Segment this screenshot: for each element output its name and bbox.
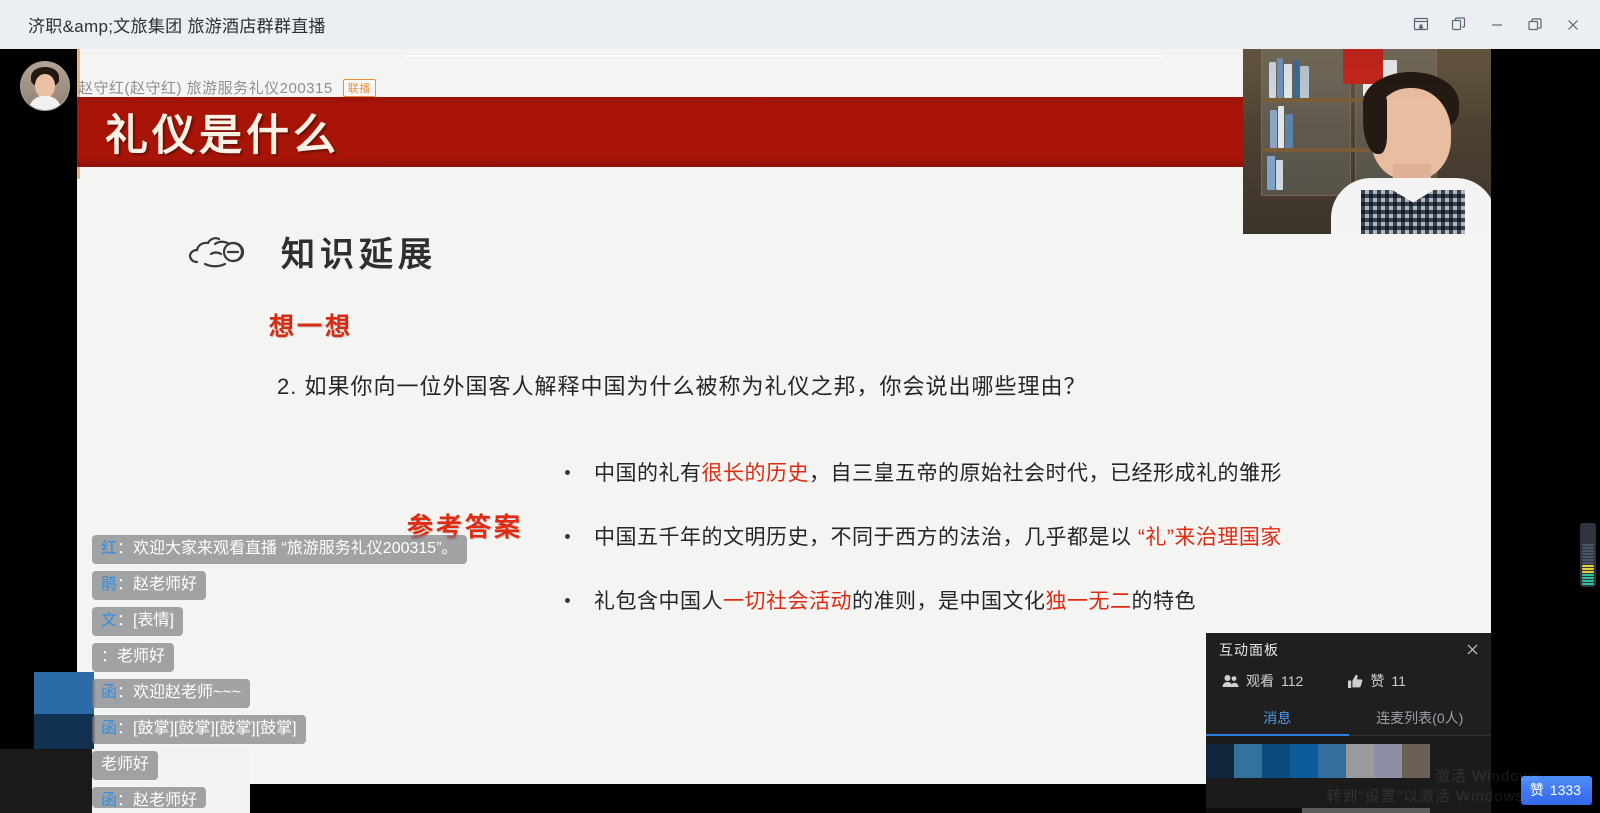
list-item (1234, 744, 1262, 778)
maximize-icon[interactable] (1516, 6, 1554, 44)
bullet-dot-icon (565, 534, 570, 539)
slide-bullet-text: 中国的礼有很长的历史，自三皇五帝的原始社会时代，已经形成礼的雏形 (594, 457, 1282, 487)
video-artifact-block (34, 672, 94, 714)
avatar-face (35, 74, 55, 98)
bullet-highlight: 独一无二 (1046, 590, 1132, 613)
chat-message: 鹃：赵老师好 (92, 571, 206, 600)
copy-window-icon[interactable] (1440, 6, 1478, 44)
list-item (1206, 744, 1234, 778)
chat-message-author: 函 (101, 720, 117, 737)
chat-overlay: 红：欢迎大家来观看直播 “旅游服务礼仪200315”。鹃：赵老师好文：[表情]：… (92, 535, 512, 808)
bullet-plain: 礼包含中国人 (594, 590, 723, 613)
chat-message-author: 红 (101, 540, 117, 557)
chat-message-author: 鹃 (101, 576, 117, 593)
bullet-highlight: 一切社会活动 (723, 590, 852, 613)
chat-message-text: [表情] (133, 612, 174, 629)
stat-likes-label: 赞 (1370, 671, 1384, 691)
chat-message: 函：[鼓掌][鼓掌][鼓掌][鼓掌] (92, 715, 306, 744)
list-item (1318, 744, 1346, 778)
pin-window-icon[interactable] (1402, 6, 1440, 44)
slide-question: 2. 如果你向一位外国客人解释中国为什么被称为礼仪之邦，你会说出哪些理由？ (277, 369, 1086, 401)
chat-message-author: 文 (101, 612, 117, 629)
chat-message: ：老师好 (92, 643, 174, 672)
tab-mic-queue[interactable]: 连麦列表(0人) (1349, 708, 1492, 736)
stat-viewers-label: 观看 (1246, 671, 1274, 691)
live-badge: 联播 (343, 79, 376, 97)
section-title: 知识延展 (281, 227, 437, 276)
presenter-avatar[interactable] (20, 61, 70, 111)
chat-message: 文：[表情] (92, 607, 183, 636)
course-label: 赵守红(赵守红) 旅游服务礼仪200315 联播 (78, 77, 376, 98)
slide-section-heading: 知识延展 (187, 227, 437, 276)
list-item (1290, 744, 1318, 778)
like-count-badge[interactable]: 赞 1333 (1521, 776, 1592, 805)
bullet-highlight: “礼”来治理国家 (1138, 526, 1282, 549)
chat-message-text: 赵老师好 (133, 792, 197, 808)
list-item (1262, 744, 1290, 778)
slide-top-rule (404, 55, 1164, 57)
chat-message-text: 老师好 (117, 648, 165, 665)
panel-header: 互动面板 (1206, 633, 1491, 667)
webcam-vignette (1243, 49, 1491, 234)
like-icon (1347, 674, 1363, 689)
audio-level-meter (1580, 523, 1596, 587)
chat-message-text: 赵老师好 (133, 576, 197, 593)
chat-message-text: 欢迎赵老师~~~ (133, 684, 241, 701)
list-item (1302, 808, 1430, 813)
chat-message-author: 函 (101, 684, 117, 701)
course-label-text: 赵守红(赵守红) 旅游服务礼仪200315 (78, 77, 333, 98)
slide-bullet-item: 中国五千年的文明历史，不同于西方的法治，几乎都是以 “礼”来治理国家 (565, 521, 1445, 551)
panel-title: 互动面板 (1219, 640, 1279, 660)
chat-message-separator: ： (117, 576, 133, 593)
like-badge-value: 1333 (1550, 782, 1581, 798)
think-label: 想一想 (269, 307, 353, 343)
panel-message-list[interactable] (1206, 736, 1491, 813)
viewers-icon (1222, 674, 1239, 688)
window-title: 济职&amp;文旅集团 旅游酒店群群直播 (28, 12, 326, 37)
chat-message-text: [鼓掌][鼓掌][鼓掌][鼓掌] (133, 720, 297, 737)
tab-messages[interactable]: 消息 (1206, 708, 1349, 736)
chat-message-author: 函 (101, 792, 117, 808)
bullet-plain: 中国五千年的文明历史，不同于西方的法治，几乎都是以 (594, 526, 1138, 549)
stat-viewers-value: 112 (1281, 673, 1303, 689)
chat-message-separator: ： (117, 612, 133, 629)
like-badge-label: 赞 (1530, 780, 1544, 800)
chat-message-separator: ： (101, 648, 117, 665)
window-controls (1402, 0, 1592, 49)
chat-message-text: 欢迎大家来观看直播 “旅游服务礼仪200315”。 (133, 540, 458, 557)
live-stage: 礼仪是什么 知识延展 想一想 2. 如果你向一位外国客人解释中国为什么被称为礼仪… (0, 49, 1600, 813)
slide-bullet-list: 中国的礼有很长的历史，自三皇五帝的原始社会时代，已经形成礼的雏形中国五千年的文明… (565, 457, 1445, 649)
chat-message-separator: ： (117, 684, 133, 701)
slide-bullet-text: 礼包含中国人一切社会活动的准则，是中国文化独一无二的特色 (594, 585, 1196, 615)
bullet-dot-icon (565, 470, 570, 475)
list-item (1206, 808, 1302, 813)
bullet-highlight: 很长的历史 (702, 462, 810, 485)
chat-message: 老师好 (92, 751, 158, 780)
bullet-plain: ，自三皇五帝的原始社会时代，已经形成礼的雏形 (809, 462, 1282, 485)
bullet-plain: 中国的礼有 (594, 462, 702, 485)
chat-message: 函：欢迎赵老师~~~ (92, 679, 250, 708)
list-item (1374, 744, 1402, 778)
chat-message-text: 老师好 (101, 756, 149, 773)
panel-stats: 观看 112 赞 11 (1222, 671, 1491, 691)
list-item (1402, 744, 1430, 778)
slide-bullet-item: 中国的礼有很长的历史，自三皇五帝的原始社会时代，已经形成礼的雏形 (565, 457, 1445, 487)
panel-tabs: 消息 连麦列表(0人) (1206, 708, 1491, 736)
slide-title: 礼仪是什么 (105, 101, 340, 163)
bullet-dot-icon (565, 598, 570, 603)
close-icon[interactable] (1554, 6, 1592, 44)
list-item (1346, 744, 1374, 778)
chat-message: 函：赵老师好 (92, 787, 206, 808)
panel-close-icon[interactable] (1461, 638, 1483, 660)
chat-message-separator: ： (117, 792, 133, 808)
window-titlebar: 济职&amp;文旅集团 旅游酒店群群直播 (0, 0, 1600, 49)
slide-bullet-item: 礼包含中国人一切社会活动的准则，是中国文化独一无二的特色 (565, 585, 1445, 615)
bullet-plain: 的特色 (1132, 590, 1197, 613)
slide-bullet-text: 中国五千年的文明历史，不同于西方的法治，几乎都是以 “礼”来治理国家 (594, 521, 1282, 551)
bullet-plain: 的准则，是中国文化 (852, 590, 1046, 613)
presenter-webcam[interactable] (1243, 49, 1491, 234)
chat-message: 红：欢迎大家来观看直播 “旅游服务礼仪200315”。 (92, 535, 467, 564)
stat-viewers: 观看 112 (1222, 671, 1303, 691)
chat-message-separator: ： (117, 720, 133, 737)
stat-likes: 赞 11 (1347, 671, 1406, 691)
stat-likes-value: 11 (1391, 673, 1406, 689)
chat-message-separator: ： (117, 540, 133, 557)
interaction-panel[interactable]: 互动面板 观看 112 (1206, 633, 1491, 813)
minimize-icon[interactable] (1478, 6, 1516, 44)
video-artifact-block (0, 749, 92, 813)
cloud-ornament-icon (187, 228, 259, 276)
